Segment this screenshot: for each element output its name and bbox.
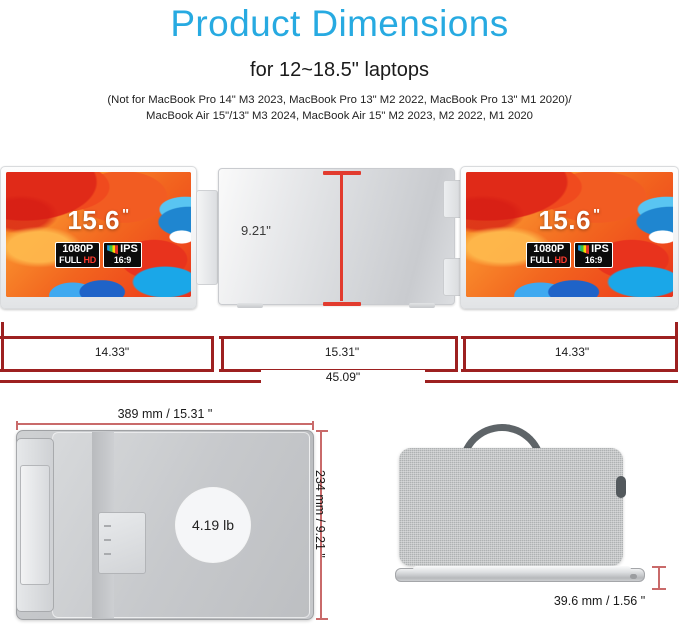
left-size-value: 15.6 bbox=[67, 205, 120, 235]
device-height-dimension: 234 mm / 9.21 " bbox=[316, 430, 334, 620]
device-height-cap-bottom bbox=[316, 618, 328, 620]
center-back-panel: 9.21" bbox=[218, 168, 455, 305]
bag-zipper-pull bbox=[616, 476, 626, 498]
stand-foot-right bbox=[409, 303, 435, 308]
device-side-bracket bbox=[16, 438, 54, 612]
left-screen-size-label: 15.6" bbox=[6, 205, 191, 236]
left-size-unit: " bbox=[122, 206, 130, 223]
profile-port bbox=[630, 574, 637, 579]
badge-hd-text: HD bbox=[555, 255, 568, 265]
device-width-label: 389 mm / 15.31 " bbox=[16, 407, 314, 421]
badge-ratio-text: 16:9 bbox=[107, 256, 138, 265]
rail-right-top bbox=[461, 336, 678, 339]
tick-right-inner bbox=[463, 336, 466, 372]
badge-ips: IPS 16:9 bbox=[574, 242, 613, 268]
rail-left-top bbox=[0, 336, 214, 339]
height-dimension-cap-bottom bbox=[323, 302, 361, 306]
rail-right-bottom bbox=[461, 369, 678, 372]
compatibility-note-line-2: MacBook Air 15"/13" M3 2024, MacBook Air… bbox=[0, 108, 679, 124]
compatibility-note: (Not for MacBook Pro 14" M3 2023, MacBoo… bbox=[0, 92, 679, 124]
left-screen: 15.6" 1080P FULL HD IPS 16:9 bbox=[6, 172, 191, 297]
thickness-label: 39.6 mm / 1.56 " bbox=[520, 594, 679, 608]
badge-ratio-text: 16:9 bbox=[578, 256, 609, 265]
tick-far-left bbox=[1, 322, 4, 372]
compatibility-note-line-1: (Not for MacBook Pro 14" M3 2023, MacBoo… bbox=[0, 92, 679, 108]
device-width-line bbox=[16, 423, 314, 425]
badge-ips: IPS 16:9 bbox=[103, 242, 142, 268]
dim-label-left: 14.33" bbox=[30, 345, 194, 359]
tick-center-start bbox=[221, 336, 224, 372]
device-width-dimension: 389 mm / 15.31 " bbox=[16, 411, 314, 429]
device-height-cap-top bbox=[316, 430, 328, 432]
tick-far-right bbox=[675, 322, 678, 372]
badge-full-text: FULL bbox=[530, 255, 552, 265]
rail-center-top bbox=[219, 336, 458, 339]
dim-label-center: 15.31" bbox=[260, 345, 424, 359]
center-height-label: 9.21" bbox=[241, 223, 271, 238]
color-wedge-icon bbox=[578, 245, 589, 254]
thickness-cap-bottom bbox=[652, 588, 666, 590]
tick-center-end bbox=[455, 336, 458, 372]
left-hinge bbox=[196, 190, 218, 285]
badge-hd-text: HD bbox=[84, 255, 97, 265]
right-screen: 15.6" 1080P FULL HD IPS 16:9 bbox=[466, 172, 673, 297]
badge-ips-text: IPS bbox=[591, 244, 609, 256]
left-screen-badges: 1080P FULL HD IPS 16:9 bbox=[6, 242, 191, 268]
badge-resolution-sub: FULL HD bbox=[530, 256, 567, 265]
device-height-label: 234 mm / 9.21 " bbox=[313, 470, 327, 558]
dim-label-right: 14.33" bbox=[490, 345, 654, 359]
profile-highlight bbox=[413, 566, 631, 573]
page-title: Product Dimensions bbox=[0, 2, 679, 46]
thickness-dimension bbox=[652, 566, 666, 590]
badge-resolution-sub: FULL HD bbox=[59, 256, 96, 265]
dim-label-total: 45.09" bbox=[261, 370, 425, 384]
thickness-line bbox=[658, 566, 660, 590]
badge-resolution: 1080P FULL HD bbox=[55, 242, 100, 268]
color-wedge-icon bbox=[107, 245, 118, 254]
carrying-bag bbox=[399, 424, 623, 566]
product-dimensions-infographic: Product Dimensions for 12~18.5" laptops … bbox=[0, 0, 679, 633]
tick-left-inner bbox=[211, 336, 214, 372]
page-subtitle: for 12~18.5" laptops bbox=[0, 57, 679, 83]
badge-full-text: FULL bbox=[59, 255, 81, 265]
left-monitor-panel: 15.6" 1080P FULL HD IPS 16:9 bbox=[0, 166, 197, 309]
badge-resolution: 1080P FULL HD bbox=[526, 242, 571, 268]
weight-badge: 4.19 lb bbox=[176, 488, 250, 562]
right-size-value: 15.6 bbox=[538, 205, 591, 235]
folded-device-top-view: 4.19 lb bbox=[16, 430, 314, 620]
rail-left-bottom bbox=[0, 369, 214, 372]
device-side-profile bbox=[395, 566, 645, 588]
height-dimension-line bbox=[340, 175, 343, 301]
right-screen-size-label: 15.6" bbox=[466, 205, 673, 236]
badge-ips-text: IPS bbox=[120, 244, 138, 256]
badge-ips-row: IPS bbox=[107, 244, 138, 256]
device-latch-tab bbox=[98, 512, 146, 574]
width-dimension-bars: 14.33" 15.31" 14.33" 45.09" bbox=[0, 322, 679, 390]
stand-foot-left bbox=[237, 303, 263, 308]
badge-ips-row: IPS bbox=[578, 244, 609, 256]
right-monitor-panel: 15.6" 1080P FULL HD IPS 16:9 bbox=[460, 166, 679, 309]
bag-body bbox=[399, 448, 623, 566]
monitor-assembly-front-view: 15.6" 1080P FULL HD IPS 16:9 9.21" bbox=[0, 166, 679, 311]
right-screen-badges: 1080P FULL HD IPS 16:9 bbox=[466, 242, 673, 268]
right-size-unit: " bbox=[593, 206, 601, 223]
